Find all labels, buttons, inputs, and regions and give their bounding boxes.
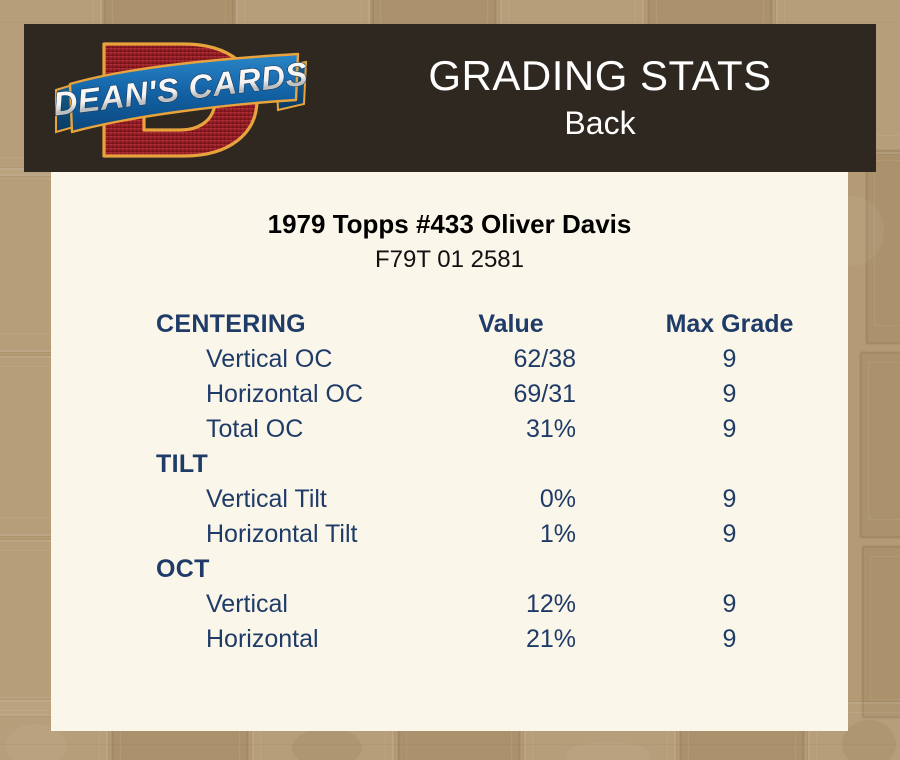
table-row: Horizontal Tilt1%9 xyxy=(51,517,848,552)
section-header-row: TILT xyxy=(51,447,848,482)
stat-max-grade: 9 xyxy=(621,622,848,657)
empty-cell xyxy=(621,447,848,482)
stat-value: 12% xyxy=(421,587,621,622)
stat-value: 31% xyxy=(421,412,621,447)
card-serial-number: F79T 01 2581 xyxy=(51,247,848,273)
grading-stats-body: CENTERINGValueMax GradeVertical OC62/389… xyxy=(51,307,848,657)
stat-max-grade: 9 xyxy=(621,587,848,622)
stat-label: Horizontal Tilt xyxy=(51,517,421,552)
stat-max-grade: 9 xyxy=(621,377,848,412)
deans-cards-logo[interactable]: DEAN'S CARDS xyxy=(52,28,312,168)
table-row: Horizontal OC69/319 xyxy=(51,377,848,412)
header-bar: DEAN'S CARDS GRADING STATS Back xyxy=(24,24,876,172)
stat-label: Vertical xyxy=(51,587,421,622)
table-row: Vertical12%9 xyxy=(51,587,848,622)
deans-cards-logo-icon: DEAN'S CARDS xyxy=(52,28,312,168)
header-text-block: GRADING STATS Back xyxy=(324,24,876,172)
content-panel: 1979 Topps #433 Oliver Davis F79T 01 258… xyxy=(51,172,848,731)
table-row: Vertical OC62/389 xyxy=(51,342,848,377)
stat-max-grade: 9 xyxy=(621,517,848,552)
section-title: OCT xyxy=(51,552,421,587)
section-title: CENTERING xyxy=(51,307,421,342)
stat-max-grade: 9 xyxy=(621,342,848,377)
card-title: 1979 Topps #433 Oliver Davis xyxy=(51,210,848,239)
empty-cell xyxy=(421,552,621,587)
section-header-row: CENTERINGValueMax Grade xyxy=(51,307,848,342)
stat-label: Vertical OC xyxy=(51,342,421,377)
page-title: GRADING STATS xyxy=(428,54,771,98)
stat-value: 21% xyxy=(421,622,621,657)
table-row: Total OC31%9 xyxy=(51,412,848,447)
stat-label: Horizontal xyxy=(51,622,421,657)
grading-stats-table: CENTERINGValueMax GradeVertical OC62/389… xyxy=(51,307,848,657)
column-header-value: Value xyxy=(421,307,621,342)
stat-label: Horizontal OC xyxy=(51,377,421,412)
grading-stats-page: DEAN'S CARDS GRADING STATS Back 1979 Top… xyxy=(0,0,900,760)
section-title: TILT xyxy=(51,447,421,482)
empty-cell xyxy=(421,447,621,482)
column-header-max-grade: Max Grade xyxy=(621,307,848,342)
section-header-row: OCT xyxy=(51,552,848,587)
stat-value: 0% xyxy=(421,482,621,517)
stat-value: 69/31 xyxy=(421,377,621,412)
table-row: Vertical Tilt0%9 xyxy=(51,482,848,517)
stat-max-grade: 9 xyxy=(621,482,848,517)
table-row: Horizontal21%9 xyxy=(51,622,848,657)
stat-label: Vertical Tilt xyxy=(51,482,421,517)
page-subtitle: Back xyxy=(564,104,635,142)
stat-value: 1% xyxy=(421,517,621,552)
empty-cell xyxy=(621,552,848,587)
stat-value: 62/38 xyxy=(421,342,621,377)
stat-label: Total OC xyxy=(51,412,421,447)
stat-max-grade: 9 xyxy=(621,412,848,447)
